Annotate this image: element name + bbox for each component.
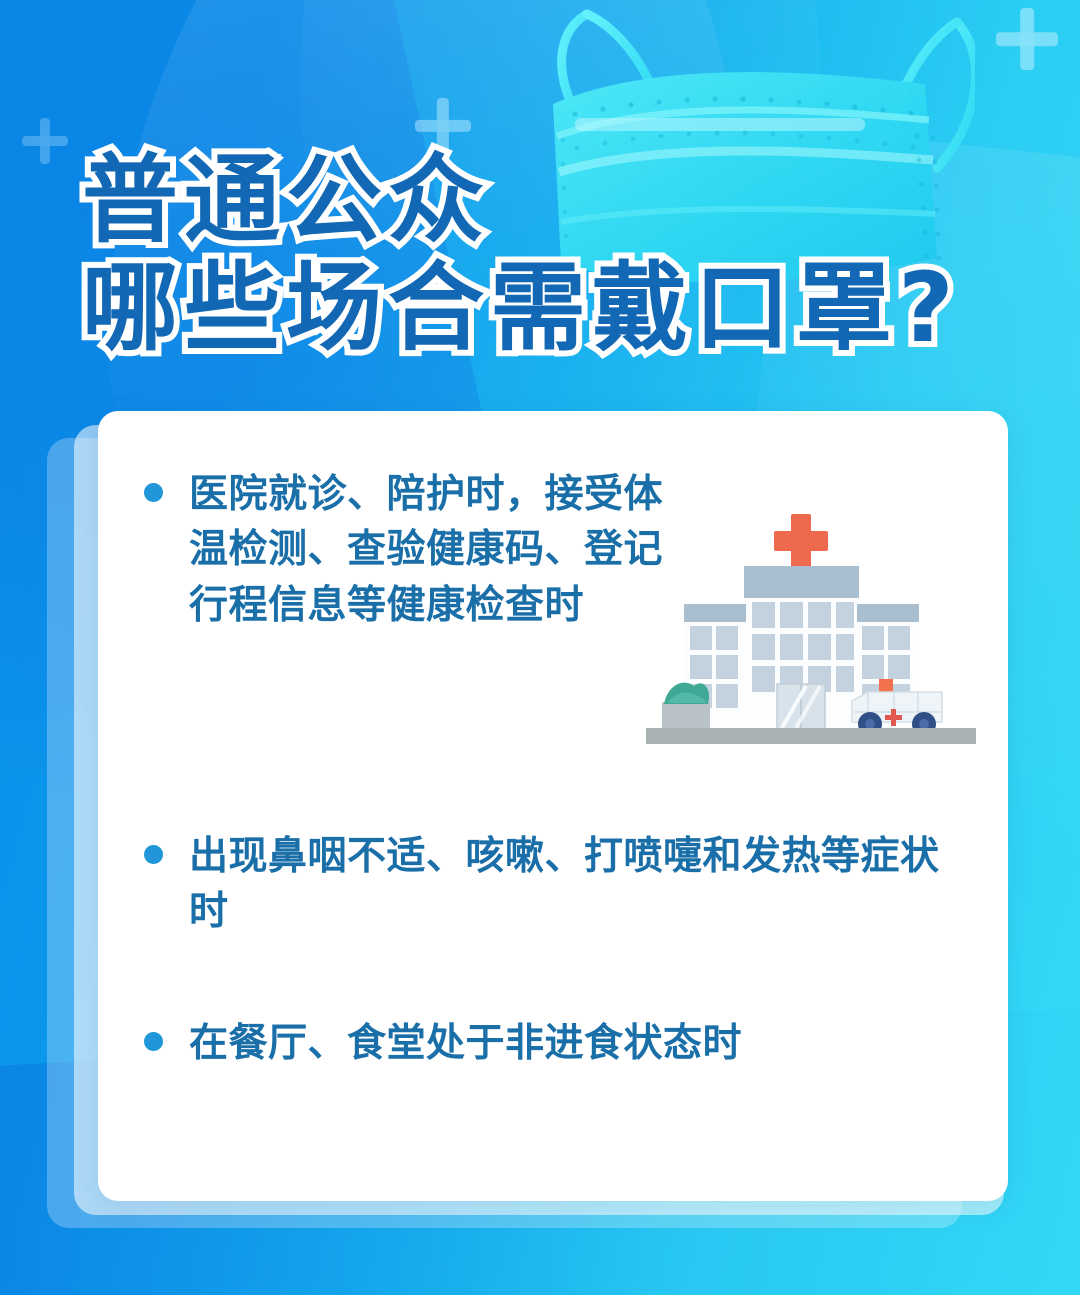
plus-mark-top-right-icon (996, 8, 1058, 70)
bush-planter (662, 683, 710, 730)
list-item-label: 出现鼻咽不适、咳嗽、打喷嚏和发热等症状时 (189, 829, 974, 940)
poster-root: 普通公众 哪些场合需戴口罩? (0, 0, 1080, 1295)
bullet-dot-icon (144, 845, 163, 864)
list-item-label: 在餐厅、食堂处于非进食状态时 (189, 1016, 742, 1071)
page-title-line-1: 普通公众 (82, 152, 1012, 250)
hospital-illustration (646, 506, 976, 766)
bullet-dot-icon (144, 1032, 163, 1051)
page-title: 普通公众 哪些场合需戴口罩? (82, 152, 1012, 358)
glass-entrance-door (777, 684, 825, 730)
list-item: 在餐厅、食堂处于非进食状态时 (144, 1016, 974, 1071)
list-item: 出现鼻咽不适、咳嗽、打喷嚏和发热等症状时 (144, 829, 974, 940)
content-card: 医院就诊、陪护时，接受体温检测、查验健康码、登记行程信息等健康检查时 出现鼻咽不… (98, 411, 1008, 1201)
list-item: 医院就诊、陪护时，接受体温检测、查验健康码、登记行程信息等健康检查时 (144, 467, 664, 633)
red-cross-sign (774, 514, 828, 568)
bullet-dot-icon (144, 483, 163, 502)
plus-mark-left-icon (22, 118, 68, 164)
page-title-line-2: 哪些场合需戴口罩? (82, 260, 1012, 358)
list-item-label: 医院就诊、陪护时，接受体温检测、查验健康码、登记行程信息等健康检查时 (189, 467, 664, 633)
